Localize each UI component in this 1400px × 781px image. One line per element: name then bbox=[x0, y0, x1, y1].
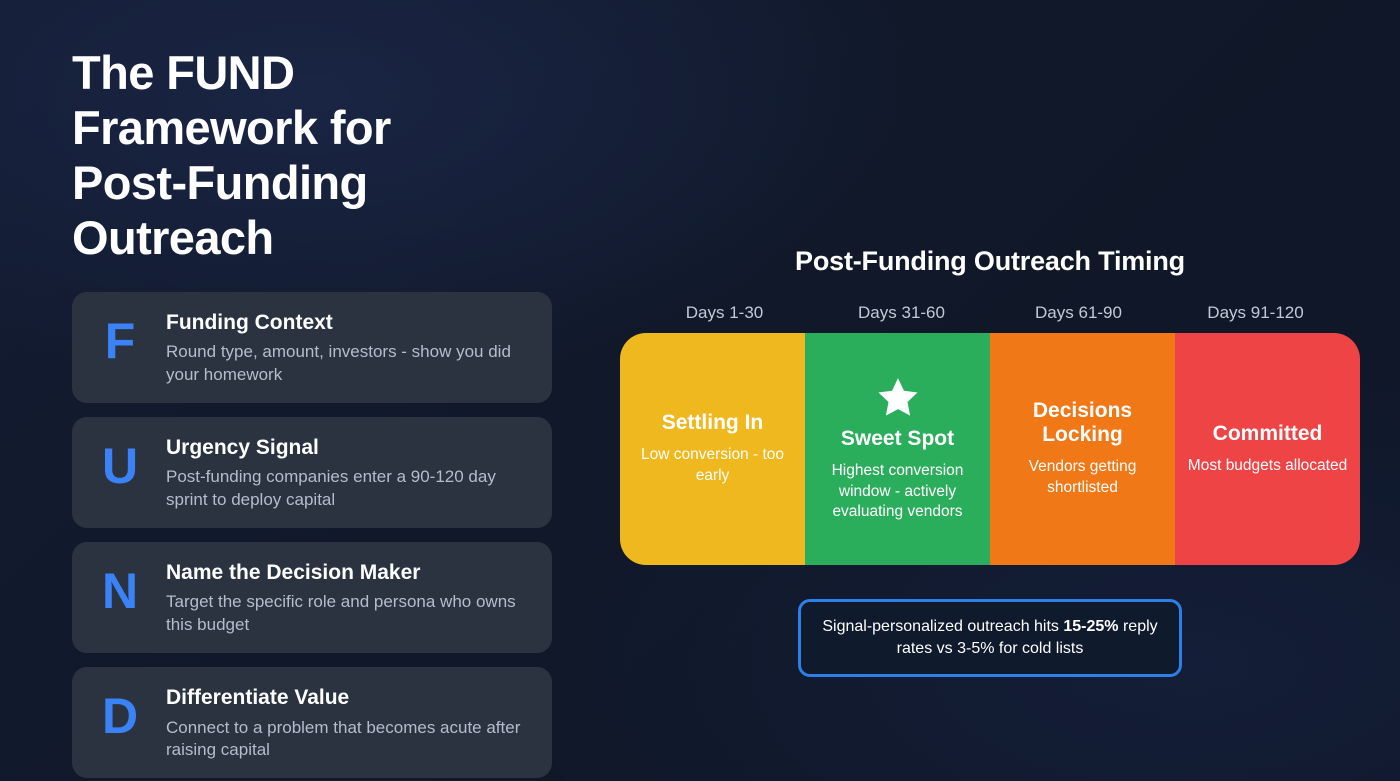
fund-letter-u: U bbox=[92, 433, 148, 491]
timeline-segment-committed[interactable]: Committed Most budgets allocated bbox=[1175, 333, 1360, 565]
timeline-segment-description: Low conversion - too early bbox=[632, 445, 793, 487]
fund-card-description: Target the specific role and persona who… bbox=[166, 591, 532, 636]
star-icon bbox=[874, 375, 922, 421]
day-label-4: Days 91-120 bbox=[1167, 303, 1344, 323]
timeline-day-label-row: Days 1-30 Days 31-60 Days 61-90 Days 91-… bbox=[620, 303, 1360, 323]
timeline-segment-label: Decisions Locking bbox=[1002, 399, 1163, 447]
timeline-panel: Post-Funding Outreach Timing Days 1-30 D… bbox=[620, 46, 1360, 677]
fund-card-body: Urgency Signal Post-funding companies en… bbox=[166, 433, 532, 511]
timeline-segment-description: Highest conversion window - actively eva… bbox=[817, 461, 978, 524]
fund-card-heading: Urgency Signal bbox=[166, 435, 532, 461]
timeline-segment-label: Committed bbox=[1213, 422, 1323, 446]
fund-card-body: Funding Context Round type, amount, inve… bbox=[166, 308, 532, 386]
fund-card-heading: Funding Context bbox=[166, 310, 532, 336]
fund-card-body: Name the Decision Maker Target the speci… bbox=[166, 558, 532, 636]
fund-card-heading: Differentiate Value bbox=[166, 685, 532, 711]
page-title: The FUND Framework for Post-Funding Outr… bbox=[72, 46, 552, 266]
timeline-segment-description: Vendors getting shortlisted bbox=[1002, 457, 1163, 499]
timeline-segment-settling-in[interactable]: Settling In Low conversion - too early bbox=[620, 333, 805, 565]
fund-letter-n: N bbox=[92, 558, 148, 616]
fund-card-u[interactable]: U Urgency Signal Post-funding companies … bbox=[72, 417, 552, 528]
day-label-1: Days 1-30 bbox=[636, 303, 813, 323]
fund-card-f[interactable]: F Funding Context Round type, amount, in… bbox=[72, 292, 552, 403]
infographic-canvas: The FUND Framework for Post-Funding Outr… bbox=[0, 0, 1400, 781]
timeline-title: Post-Funding Outreach Timing bbox=[620, 246, 1360, 277]
day-label-3: Days 61-90 bbox=[990, 303, 1167, 323]
fund-card-description: Round type, amount, investors - show you… bbox=[166, 341, 532, 386]
fund-letter-f: F bbox=[92, 308, 148, 366]
timeline-segment-label: Settling In bbox=[662, 411, 764, 435]
fund-card-description: Post-funding companies enter a 90-120 da… bbox=[166, 466, 532, 511]
fund-card-description: Connect to a problem that becomes acute … bbox=[166, 717, 532, 762]
timeline-segment-sweet-spot[interactable]: Sweet Spot Highest conversion window - a… bbox=[805, 333, 990, 565]
timeline-segment-description: Most budgets allocated bbox=[1188, 456, 1347, 477]
fund-letter-d: D bbox=[92, 683, 148, 741]
timeline-segment-decisions-locking[interactable]: Decisions Locking Vendors getting shortl… bbox=[990, 333, 1175, 565]
fund-card-heading: Name the Decision Maker bbox=[166, 560, 532, 586]
day-label-2: Days 31-60 bbox=[813, 303, 990, 323]
fund-card-n[interactable]: N Name the Decision Maker Target the spe… bbox=[72, 542, 552, 653]
framework-panel: The FUND Framework for Post-Funding Outr… bbox=[72, 46, 552, 778]
fund-card-list: F Funding Context Round type, amount, in… bbox=[72, 292, 552, 779]
fund-card-body: Differentiate Value Connect to a problem… bbox=[166, 683, 532, 761]
stat-callout-box: Signal-personalized outreach hits 15-25%… bbox=[798, 599, 1182, 677]
fund-card-d[interactable]: D Differentiate Value Connect to a probl… bbox=[72, 667, 552, 778]
callout-highlight: 15-25% bbox=[1063, 618, 1118, 635]
timeline-segment-label: Sweet Spot bbox=[841, 427, 954, 451]
timeline-bar: Settling In Low conversion - too early S… bbox=[620, 333, 1360, 565]
callout-text-before: Signal-personalized outreach hits bbox=[822, 618, 1063, 635]
